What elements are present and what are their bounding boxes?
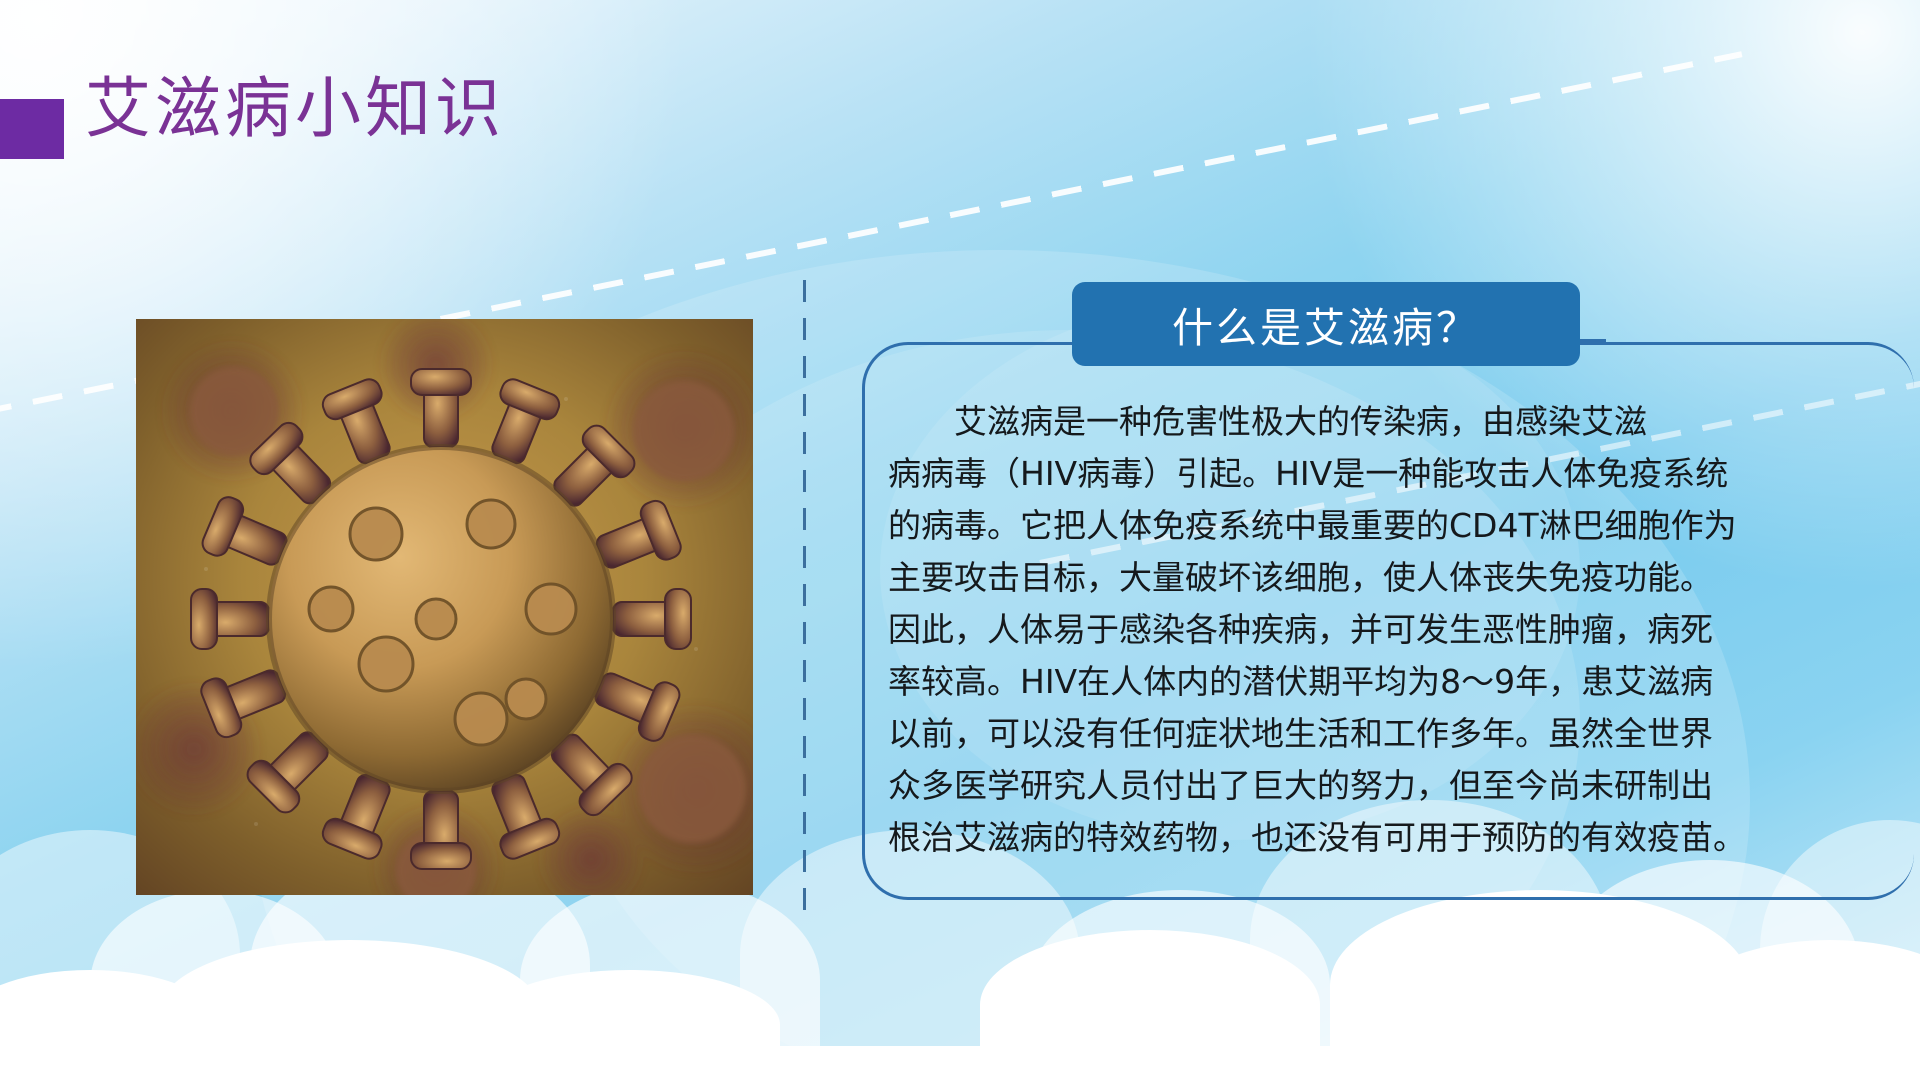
body-line: 以前，可以没有任何症状地生活和工作多年。虽然全世界 [888,708,1898,760]
body-line: 主要攻击目标，大量破坏该细胞，使人体丧失免疫功能。 [888,552,1898,604]
vertical-dashed-divider [803,280,806,910]
callout-connector-line [1576,339,1606,342]
body-line: 根治艾滋病的特效药物，也还没有可用于预防的有效疫苗。 [888,812,1898,864]
body-line: 众多医学研究人员付出了巨大的努力，但至今尚未研制出 [888,760,1898,812]
page-title: 艾滋病小知识 [85,70,505,149]
virus-illustration [136,319,753,895]
callout-body-text: 艾滋病是一种危害性极大的传染病，由感染艾滋 病病毒（HIV病毒）引起。HIV是一… [888,396,1898,864]
slide-root: 艾滋病小知识 [0,0,1920,1080]
body-line: 率较高。HIV在人体内的潜伏期平均为8～9年，患艾滋病 [888,656,1898,708]
body-line: 因此，人体易于感染各种疾病，并可发生恶性肿瘤，病死 [888,604,1898,656]
body-line: 病病毒（HIV病毒）引起。HIV是一种能攻击人体免疫系统 [888,448,1898,500]
body-line: 的病毒。它把人体免疫系统中最重要的CD4T淋巴细胞作为 [888,500,1898,552]
callout-header-badge[interactable]: 什么是艾滋病？ [1072,282,1580,366]
cloud-base-strip [0,1046,1920,1080]
hiv-virus-photo [136,319,753,895]
body-line: 艾滋病是一种危害性极大的传染病，由感染艾滋 [888,396,1898,448]
callout-header-label: 什么是艾滋病？ [1172,294,1480,354]
title-accent-block [0,99,64,159]
